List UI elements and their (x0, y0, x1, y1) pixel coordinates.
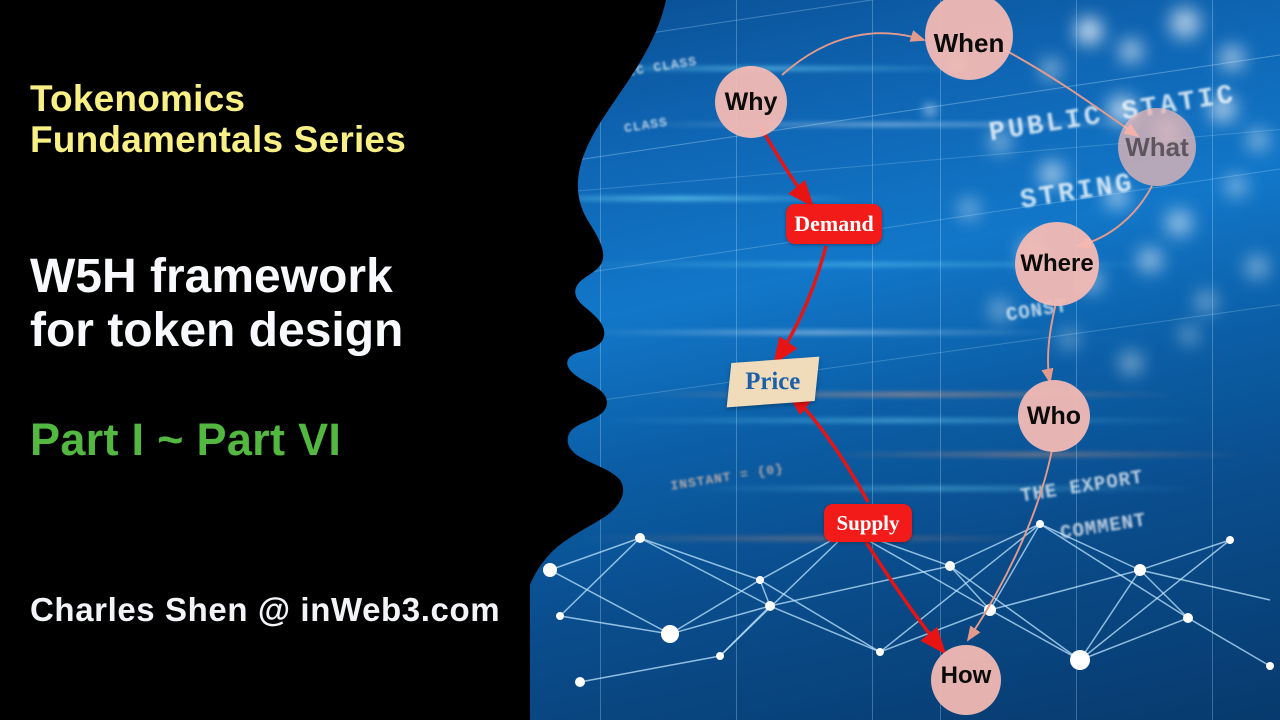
edge-supply-price (788, 392, 868, 502)
chip-supply-label: Supply (836, 511, 899, 536)
edge-when-what (1005, 50, 1138, 136)
edge-demand-price (775, 246, 826, 362)
edge-who-how (968, 450, 1052, 640)
chip-demand[interactable]: Demand (786, 204, 882, 244)
edge-where-who (1048, 303, 1056, 382)
node-where[interactable]: Where (1015, 222, 1099, 306)
node-why[interactable]: Why (715, 66, 787, 138)
edge-why-demand (760, 126, 812, 205)
edge-supply-how (866, 542, 944, 652)
price-label-text: Price (745, 368, 800, 396)
node-who-label: Who (1027, 402, 1081, 431)
node-where-label: Where (1020, 250, 1093, 278)
node-how[interactable]: How (931, 645, 1001, 715)
diagram-connectors (0, 0, 1280, 720)
node-when-label: When (934, 28, 1005, 59)
chip-supply[interactable]: Supply (824, 504, 912, 542)
price-label-box[interactable]: Price (727, 357, 820, 408)
edge-why-when (782, 33, 924, 75)
node-what-label: What (1125, 132, 1189, 163)
node-why-label: Why (725, 88, 778, 117)
slide-canvas: PUBLIC STATIC STRING CONST THE EXPORT CO… (0, 0, 1280, 720)
chip-demand-label: Demand (794, 211, 873, 237)
node-how-label: How (941, 662, 992, 690)
node-what[interactable]: What (1118, 108, 1196, 186)
node-who[interactable]: Who (1018, 380, 1090, 452)
w5h-diagram: Why When What Where Who How Demand Suppl… (0, 0, 1280, 720)
